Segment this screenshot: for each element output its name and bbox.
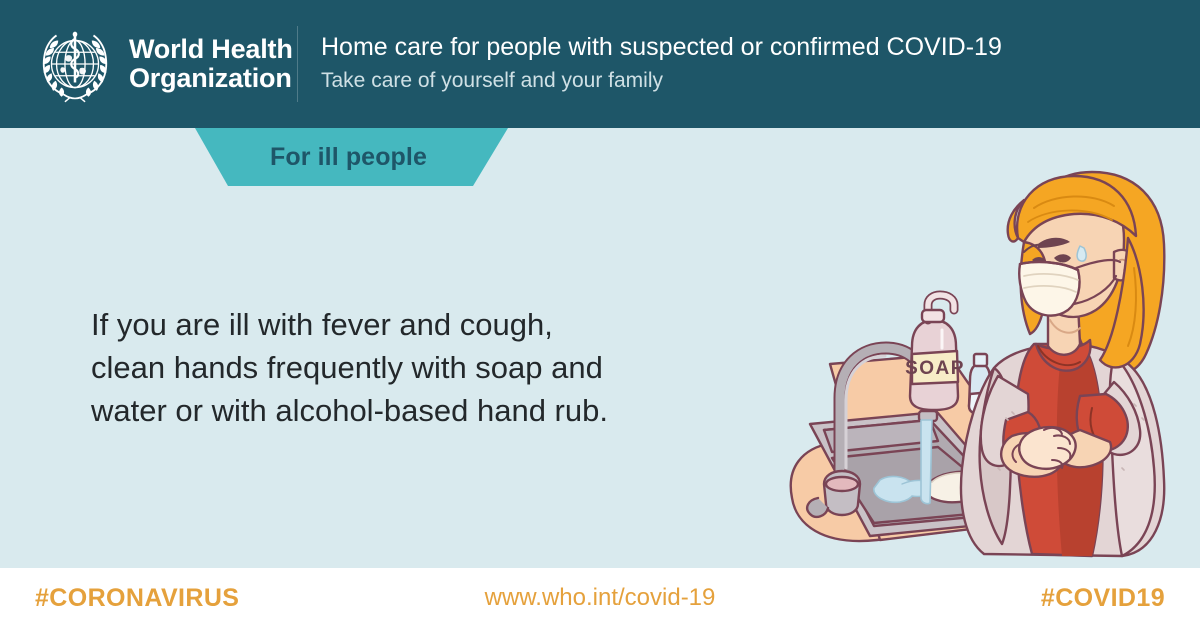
footer-website[interactable]: www.who.int/covid-19 — [0, 568, 1200, 628]
footer-hashtag-right: #COVID19 — [1041, 568, 1165, 628]
header-divider — [297, 26, 298, 102]
main-message-line-1: If you are ill with fever and cough, — [91, 303, 711, 346]
header-text-block: Home care for people with suspected or c… — [321, 32, 1181, 96]
header-bar: World Health Organization Home care for … — [0, 0, 1200, 128]
who-wordmark: World Health Organization — [129, 35, 293, 92]
who-wordmark-line1: World Health — [129, 35, 293, 64]
footer-bar: #CORONAVIRUS www.who.int/covid-19 #COVID… — [0, 568, 1200, 628]
header-subtitle: Take care of yourself and your family — [321, 67, 1181, 95]
main-message: If you are ill with fever and cough, cle… — [91, 303, 711, 432]
soap-label-text: SOAP — [905, 358, 965, 379]
category-tag: For ill people — [190, 128, 515, 186]
who-emblem-icon — [33, 22, 117, 106]
sweat-drop — [1077, 246, 1086, 261]
who-logo: World Health Organization — [33, 22, 293, 106]
who-covid-infographic-poster: World Health Organization Home care for … — [0, 0, 1200, 628]
handwashing-illustration: SOAP — [762, 168, 1200, 568]
header-title: Home care for people with suspected or c… — [321, 32, 1181, 63]
main-message-line-3: water or with alcohol-based hand rub. — [91, 389, 711, 432]
who-wordmark-line2: Organization — [129, 64, 293, 93]
category-tag-label: For ill people — [190, 128, 515, 186]
main-message-line-2: clean hands frequently with soap and — [91, 346, 711, 389]
